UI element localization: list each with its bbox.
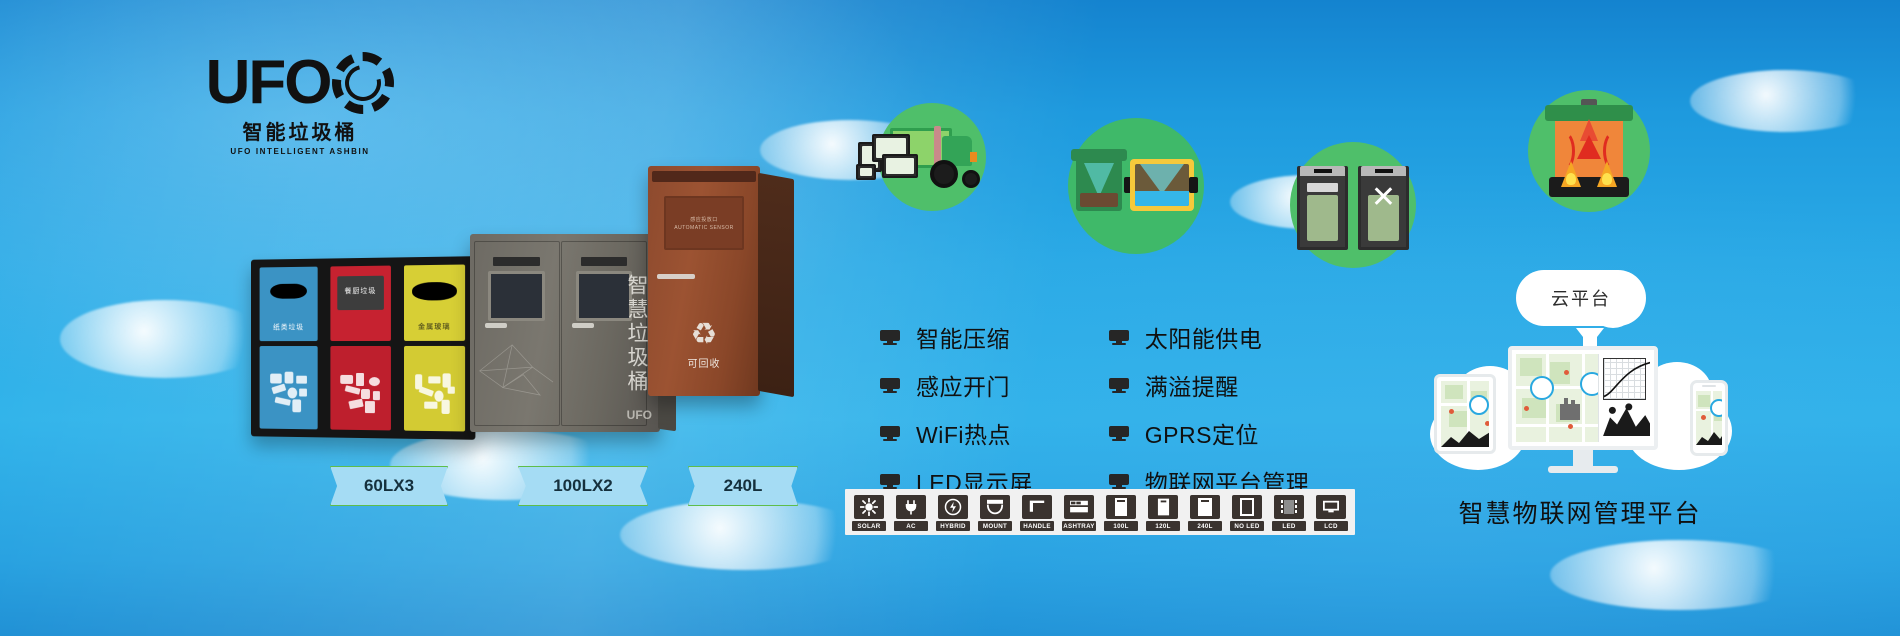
ashtray-icon [1064, 495, 1094, 519]
compartment-label: 餐厨垃圾 [330, 285, 390, 296]
spec-chip-handle[interactable]: HANDLE [1019, 493, 1055, 531]
feature-item: 感应开门 [880, 368, 1033, 402]
gray-smart-bin: 智慧垃圾桶 UFO [470, 234, 660, 432]
brand-logo: UFO 智能垃圾桶 UFO INTELLIGENT ASHBIN [200, 52, 400, 156]
cloud-decor [620, 500, 870, 570]
cloud-bubble: 云平台 [1516, 270, 1646, 326]
feature-list: 智能压缩 感应开门 WiFi热点 LED显示屏 太阳能供电 满溢提醒 [880, 320, 1309, 498]
logo-wordmark-row: UFO [200, 52, 400, 114]
compaction-circle: ✕ [1290, 142, 1416, 268]
compartment-label: 纸类垃圾 [259, 323, 318, 333]
sun-icon [854, 495, 884, 519]
feature-item: GPRS定位 [1109, 416, 1310, 450]
down-arrow-icon [1576, 328, 1604, 346]
feature-label: 满溢提醒 [1145, 368, 1239, 402]
spec-chip-ac[interactable]: AC [893, 493, 929, 531]
spec-chip-led[interactable]: LED [1271, 493, 1307, 531]
spec-icon-strip: SOLAR AC HYBRID MOUNT HANDLE [845, 489, 1355, 535]
spec-chip-label: HYBRID [936, 521, 970, 531]
logo-chinese-name: 智能垃圾桶 [200, 116, 400, 145]
monitor-stand-neck [1573, 450, 1593, 466]
waste-glyphs [265, 369, 312, 417]
monitor-icon [1109, 330, 1129, 345]
spec-chip-label: HANDLE [1020, 521, 1054, 531]
monitor-icon [880, 330, 900, 345]
lightning-bolt-icon [938, 495, 968, 519]
feature-item: 满溢提醒 [1109, 368, 1310, 402]
feature-label: 智能压缩 [916, 320, 1010, 354]
spec-chip-label: AC [894, 521, 928, 531]
bin-door-left [474, 241, 560, 426]
spec-chip-label: 100L [1104, 521, 1138, 531]
wall-mount-icon [980, 495, 1010, 519]
cloud-platform-illustration: 云平台 [1430, 280, 1730, 510]
spec-chip-100l[interactable]: 100L [1103, 493, 1139, 531]
bin-120l-icon [1148, 495, 1178, 519]
feature-item: 智能压缩 [880, 320, 1033, 354]
phone-map [1696, 391, 1722, 445]
fire-alarm-circle [1528, 90, 1650, 212]
monitor-icon [880, 474, 900, 489]
feature-item: 太阳能供电 [1109, 320, 1310, 354]
spec-chip-solar[interactable]: SOLAR [851, 493, 887, 531]
monitor-map [1516, 354, 1650, 442]
cloud-platform-label: 云平台 [1551, 285, 1611, 311]
blank-panel-icon [1232, 495, 1262, 519]
cloud-decor [60, 300, 270, 378]
waste-glyphs [336, 370, 384, 419]
bin-100l-icon [1106, 495, 1136, 519]
banner-stage: UFO 智能垃圾桶 UFO INTELLIGENT ASHBIN 纸类垃圾 [0, 0, 1900, 636]
spec-chip-mount[interactable]: MOUNT [977, 493, 1013, 531]
bin-screen-line1: 感应投放口 [690, 216, 718, 223]
compaction-bin-icon: ✕ [1297, 166, 1409, 244]
spec-chip-label: LED [1272, 521, 1306, 531]
feature-label: 感应开门 [916, 368, 1010, 402]
feature-label: WiFi热点 [916, 416, 1011, 450]
spec-chip-lcd[interactable]: LCD [1313, 493, 1349, 531]
spec-chip-no-led[interactable]: NO LED [1229, 493, 1265, 531]
feature-column-left: 智能压缩 感应开门 WiFi热点 LED显示屏 [880, 320, 1033, 498]
spec-chip-120l[interactable]: 120L [1145, 493, 1181, 531]
spec-chip-label: 240L [1188, 521, 1222, 531]
monitor-icon [880, 378, 900, 393]
ufo-ring-icon [332, 52, 394, 114]
capacity-ribbon-240l: 240L [688, 466, 798, 506]
cloud-decor [1690, 70, 1880, 132]
platform-title: 智慧物联网管理平台 [1430, 494, 1730, 530]
bin-body-text: 智慧垃圾桶 [621, 274, 651, 394]
spec-chip-label: LCD [1314, 521, 1348, 531]
lcd-screen-icon [1316, 495, 1346, 519]
spec-chip-ashtray[interactable]: ASHTRAY [1061, 493, 1097, 531]
waste-glyphs [410, 370, 459, 420]
bin-screen-line2: AUTOMATIC SENSOR [674, 225, 734, 231]
power-plug-icon [896, 495, 926, 519]
polygon-pattern [475, 315, 559, 417]
ultrasonic-fill-sensor-icon [1076, 153, 1196, 219]
monitor-icon [1109, 378, 1129, 393]
bin-compartment-paper: 纸类垃圾 [255, 267, 322, 430]
bin-label: 可回收 [648, 355, 760, 370]
desktop-monitor [1508, 346, 1658, 450]
handle-icon [1022, 495, 1052, 519]
cloud-decor [1550, 540, 1810, 610]
smartphone-device [1690, 380, 1728, 456]
area-chart [1603, 401, 1650, 436]
brown-smart-bin: 感应投放口 AUTOMATIC SENSOR ♻ 可回收 [648, 166, 760, 396]
compartment-label: 金属玻璃 [404, 322, 466, 332]
logo-english-tagline: UFO INTELLIGENT ASHBIN [200, 147, 400, 156]
spec-chip-label: 120L [1146, 521, 1180, 531]
capacity-ribbon-60lx3: 60LX3 [330, 466, 448, 506]
bin-compartment-kitchen: 餐厨垃圾 [326, 266, 394, 431]
logo-wordmark: UFO [206, 54, 331, 112]
capacity-ribbon-100lx2: 100LX2 [518, 466, 648, 506]
feature-item: WiFi热点 [880, 416, 1033, 450]
monitor-icon [1109, 474, 1129, 489]
bin-240l-icon [1190, 495, 1220, 519]
monitor-icon [1109, 426, 1129, 441]
monitor-icon [880, 426, 900, 441]
bin-screen: 感应投放口 AUTOMATIC SENSOR [664, 196, 745, 251]
led-panel-icon [1274, 495, 1304, 519]
feature-label: 太阳能供电 [1145, 320, 1263, 354]
recycle-icon: ♻ [691, 320, 718, 350]
fill-level-circle [1068, 118, 1204, 254]
feature-column-right: 太阳能供电 满溢提醒 GPRS定位 物联网平台管理 [1109, 320, 1310, 498]
tablet-map [1441, 381, 1489, 447]
tablet-device [1434, 374, 1496, 454]
spec-chip-240l[interactable]: 240L [1187, 493, 1223, 531]
feature-label: GPRS定位 [1145, 416, 1259, 450]
collection-truck-circle [878, 103, 986, 211]
fire-alarm-bin-icon [1545, 105, 1633, 197]
spec-chip-label: NO LED [1230, 521, 1264, 531]
tri-color-bin: 纸类垃圾 [251, 256, 475, 440]
spec-chip-label: SOLAR [852, 521, 886, 531]
monitor-stand-base [1548, 466, 1618, 473]
spec-chip-hybrid[interactable]: HYBRID [935, 493, 971, 531]
line-chart-curve [1603, 358, 1650, 398]
spec-chip-label: MOUNT [978, 521, 1012, 531]
bin-logo-mark: UFO [627, 408, 652, 422]
spec-chip-label: ASHTRAY [1062, 521, 1096, 531]
garbage-truck-icon [884, 126, 980, 188]
monitor-chart-pane [1598, 354, 1650, 442]
bin-compartment-metal-glass: 金属玻璃 [399, 264, 469, 431]
